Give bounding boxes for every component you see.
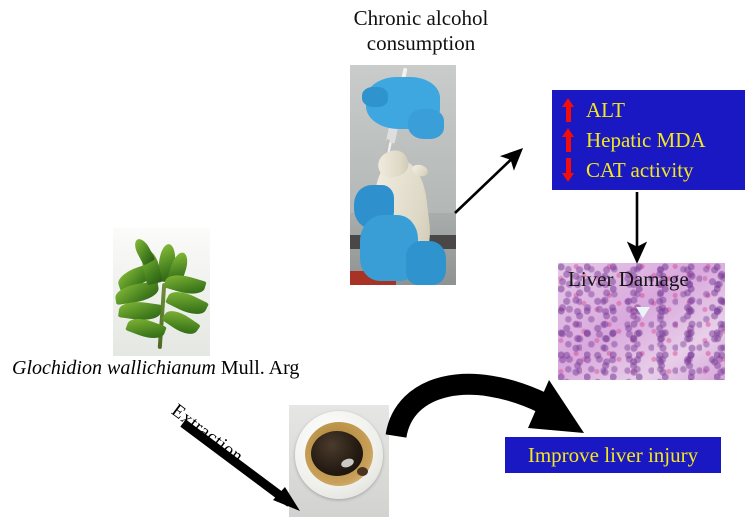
biomarker-row-hepatic-mda: Hepatic MDA — [562, 125, 745, 155]
biomarker-label-hepatic-mda: Hepatic MDA — [586, 125, 706, 155]
plant-photo — [113, 228, 210, 356]
histology-label: Liver Damage — [568, 267, 725, 292]
biomarker-box: ALT Hepatic MDA CAT activity — [552, 90, 745, 190]
arrow-up-icon — [562, 98, 575, 122]
arrow-to-biomarkers — [455, 150, 521, 213]
title-line-1: Chronic alcohol — [316, 6, 526, 31]
page-title: Chronic alcohol consumption — [316, 6, 526, 56]
rat-gavage-photo — [350, 65, 456, 285]
biomarker-row-alt: ALT — [562, 95, 745, 125]
biomarker-label-alt: ALT — [586, 95, 625, 125]
arrow-up-icon — [562, 128, 575, 152]
biomarker-label-cat-activity: CAT activity — [586, 155, 694, 185]
white-arrowhead-marker-icon — [636, 307, 650, 318]
species-label: Glochidion wallichianum Mull. Arg — [12, 357, 372, 380]
biomarker-row-cat-activity: CAT activity — [562, 155, 745, 185]
species-binomial: Glochidion wallichianum — [12, 357, 216, 379]
extraction-label: Extraction — [167, 400, 247, 468]
outcome-box: Improve liver injury — [505, 437, 721, 473]
species-authority: Mull. Arg — [216, 357, 300, 379]
title-line-2: consumption — [316, 31, 526, 56]
arrow-down-icon — [562, 158, 575, 182]
arrow-treatment-curved — [396, 380, 584, 436]
outcome-label: Improve liver injury — [528, 443, 698, 468]
extract-dish-photo — [289, 405, 389, 517]
liver-histology-photo: Liver Damage — [558, 263, 725, 380]
